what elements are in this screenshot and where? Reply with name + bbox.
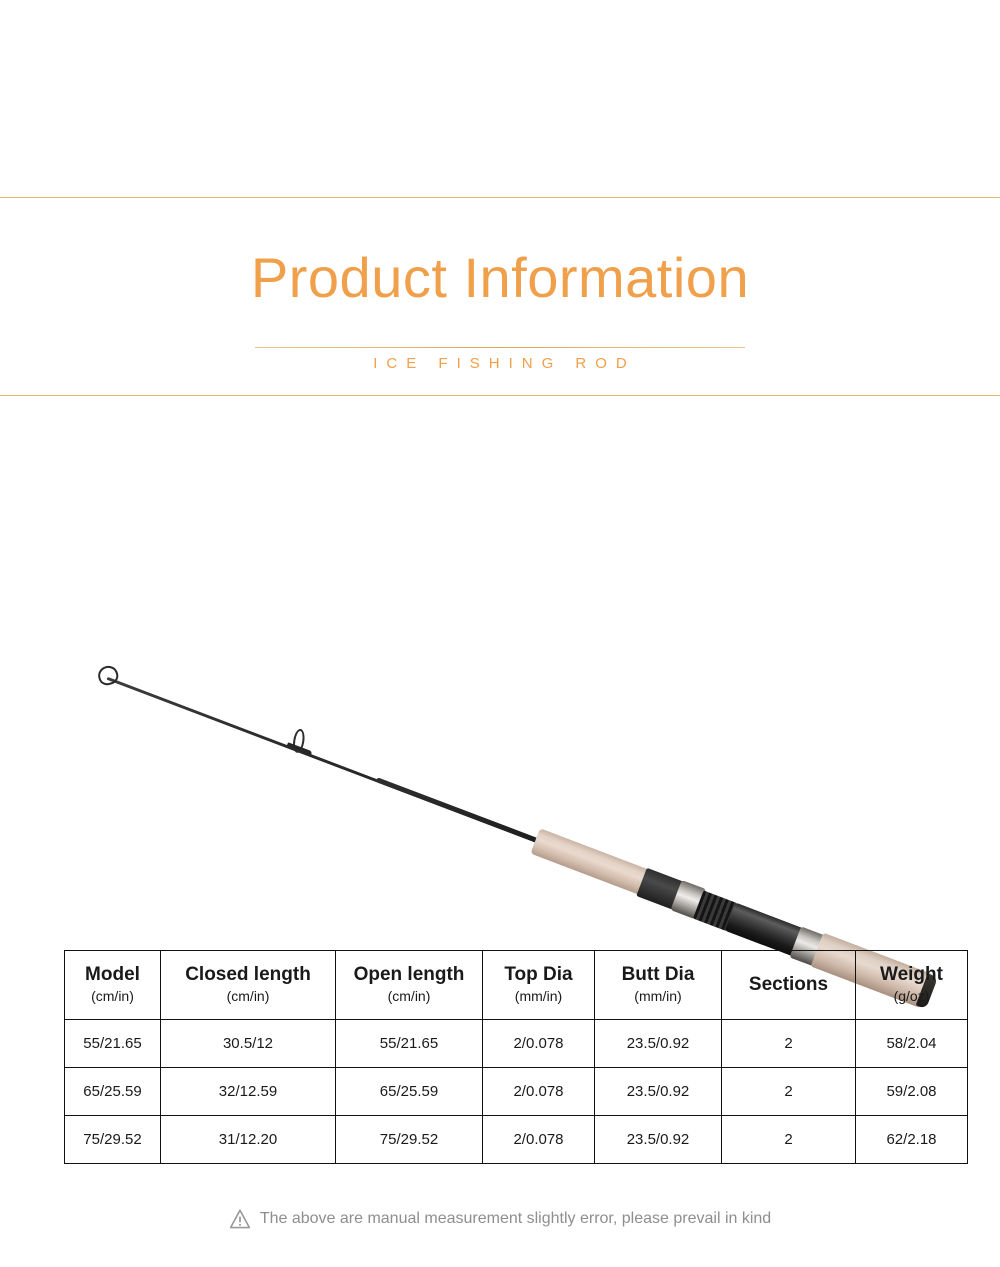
tip-guide-icon xyxy=(96,663,121,687)
table-row: 65/25.59 32/12.59 65/25.59 2/0.078 23.5/… xyxy=(65,1068,968,1116)
column-header-model: Model (cm/in) xyxy=(65,951,161,1020)
column-header-label: Top Dia xyxy=(483,964,594,986)
column-header-unit: (cm/in) xyxy=(65,987,160,1005)
column-header-unit: (g/oz) xyxy=(856,987,967,1005)
ice-fishing-rod-illustration xyxy=(60,500,970,910)
cell-butt-dia: 23.5/0.92 xyxy=(595,1116,722,1164)
column-header-weight: Weight (g/oz) xyxy=(856,951,968,1020)
cell-butt-dia: 23.5/0.92 xyxy=(595,1068,722,1116)
page-subtitle: ICE FISHING ROD xyxy=(0,355,1000,372)
cell-sections: 2 xyxy=(722,1020,856,1068)
column-header-label: Weight xyxy=(856,964,967,986)
cell-top-dia: 2/0.078 xyxy=(483,1020,595,1068)
product-image xyxy=(60,500,970,910)
column-header-label: Open length xyxy=(336,964,482,986)
column-header-unit: (cm/in) xyxy=(161,987,335,1005)
column-header-sections: Sections xyxy=(722,951,856,1020)
cell-weight: 59/2.08 xyxy=(856,1068,968,1116)
cell-sections: 2 xyxy=(722,1068,856,1116)
cell-top-dia: 2/0.078 xyxy=(483,1116,595,1164)
disclaimer-text: The above are manual measurement slightl… xyxy=(260,1210,771,1228)
column-header-unit: (mm/in) xyxy=(595,987,721,1005)
cell-closed-length: 30.5/12 xyxy=(161,1020,336,1068)
column-header-butt-dia: Butt Dia (mm/in) xyxy=(595,951,722,1020)
column-header-unit: (mm/in) xyxy=(483,987,594,1005)
cell-closed-length: 32/12.59 xyxy=(161,1068,336,1116)
table-row: 55/21.65 30.5/12 55/21.65 2/0.078 23.5/0… xyxy=(65,1020,968,1068)
page-title: Product Information xyxy=(0,250,1000,306)
column-header-label: Model xyxy=(65,964,160,986)
cell-sections: 2 xyxy=(722,1116,856,1164)
column-header-unit: (cm/in) xyxy=(336,987,482,1005)
cell-model: 55/21.65 xyxy=(65,1020,161,1068)
cell-model: 65/25.59 xyxy=(65,1068,161,1116)
page-header: Product Information ICE FISHING ROD xyxy=(0,197,1000,396)
column-header-label: Butt Dia xyxy=(595,964,721,986)
cell-open-length: 55/21.65 xyxy=(336,1020,483,1068)
column-header-top-dia: Top Dia (mm/in) xyxy=(483,951,595,1020)
rod-blank-butt-section xyxy=(376,777,555,849)
table-header-row: Model (cm/in) Closed length (cm/in) Open… xyxy=(65,951,968,1020)
cell-top-dia: 2/0.078 xyxy=(483,1068,595,1116)
column-header-label: Closed length xyxy=(161,964,335,986)
specification-table: Model (cm/in) Closed length (cm/in) Open… xyxy=(64,950,968,1164)
disclaimer: The above are manual measurement slightl… xyxy=(0,1208,1000,1230)
fore-grip xyxy=(530,828,650,895)
cell-butt-dia: 23.5/0.92 xyxy=(595,1020,722,1068)
cell-model: 75/29.52 xyxy=(65,1116,161,1164)
cell-weight: 62/2.18 xyxy=(856,1116,968,1164)
column-header-open-length: Open length (cm/in) xyxy=(336,951,483,1020)
warning-triangle-icon xyxy=(229,1208,251,1230)
cell-open-length: 75/29.52 xyxy=(336,1116,483,1164)
column-header-label: Sections xyxy=(722,974,855,996)
cell-open-length: 65/25.59 xyxy=(336,1068,483,1116)
subtitle-divider xyxy=(255,347,745,348)
table-row: 75/29.52 31/12.20 75/29.52 2/0.078 23.5/… xyxy=(65,1116,968,1164)
cell-weight: 58/2.04 xyxy=(856,1020,968,1068)
column-header-closed-length: Closed length (cm/in) xyxy=(161,951,336,1020)
cell-closed-length: 31/12.20 xyxy=(161,1116,336,1164)
